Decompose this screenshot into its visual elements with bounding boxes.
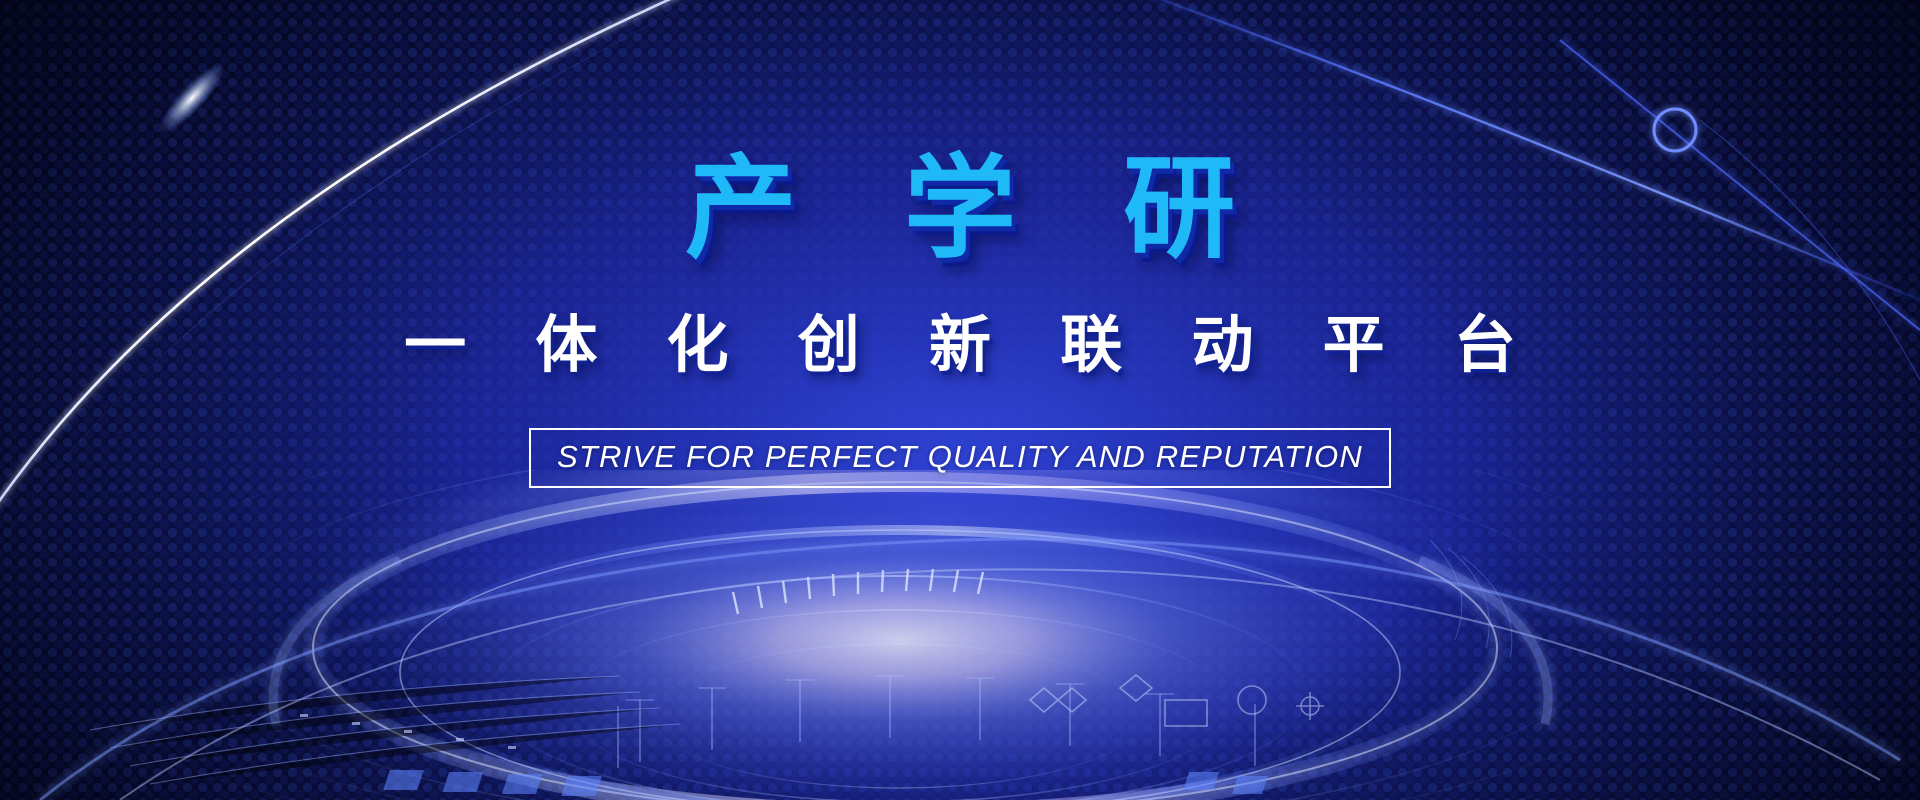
banner-content: 产 学 研 一 体 化 创 新 联 动 平 台 STRIVE FOR PERFE… (0, 0, 1920, 800)
page-subtitle: 一 体 化 创 新 联 动 平 台 (378, 294, 1542, 384)
page-title: 产 学 研 (647, 150, 1273, 268)
tagline-box: STRIVE FOR PERFECT QUALITY AND REPUTATIO… (529, 428, 1391, 488)
tagline-text: STRIVE FOR PERFECT QUALITY AND REPUTATIO… (557, 439, 1363, 475)
hero-banner: 产 学 研 一 体 化 创 新 联 动 平 台 STRIVE FOR PERFE… (0, 0, 1920, 800)
